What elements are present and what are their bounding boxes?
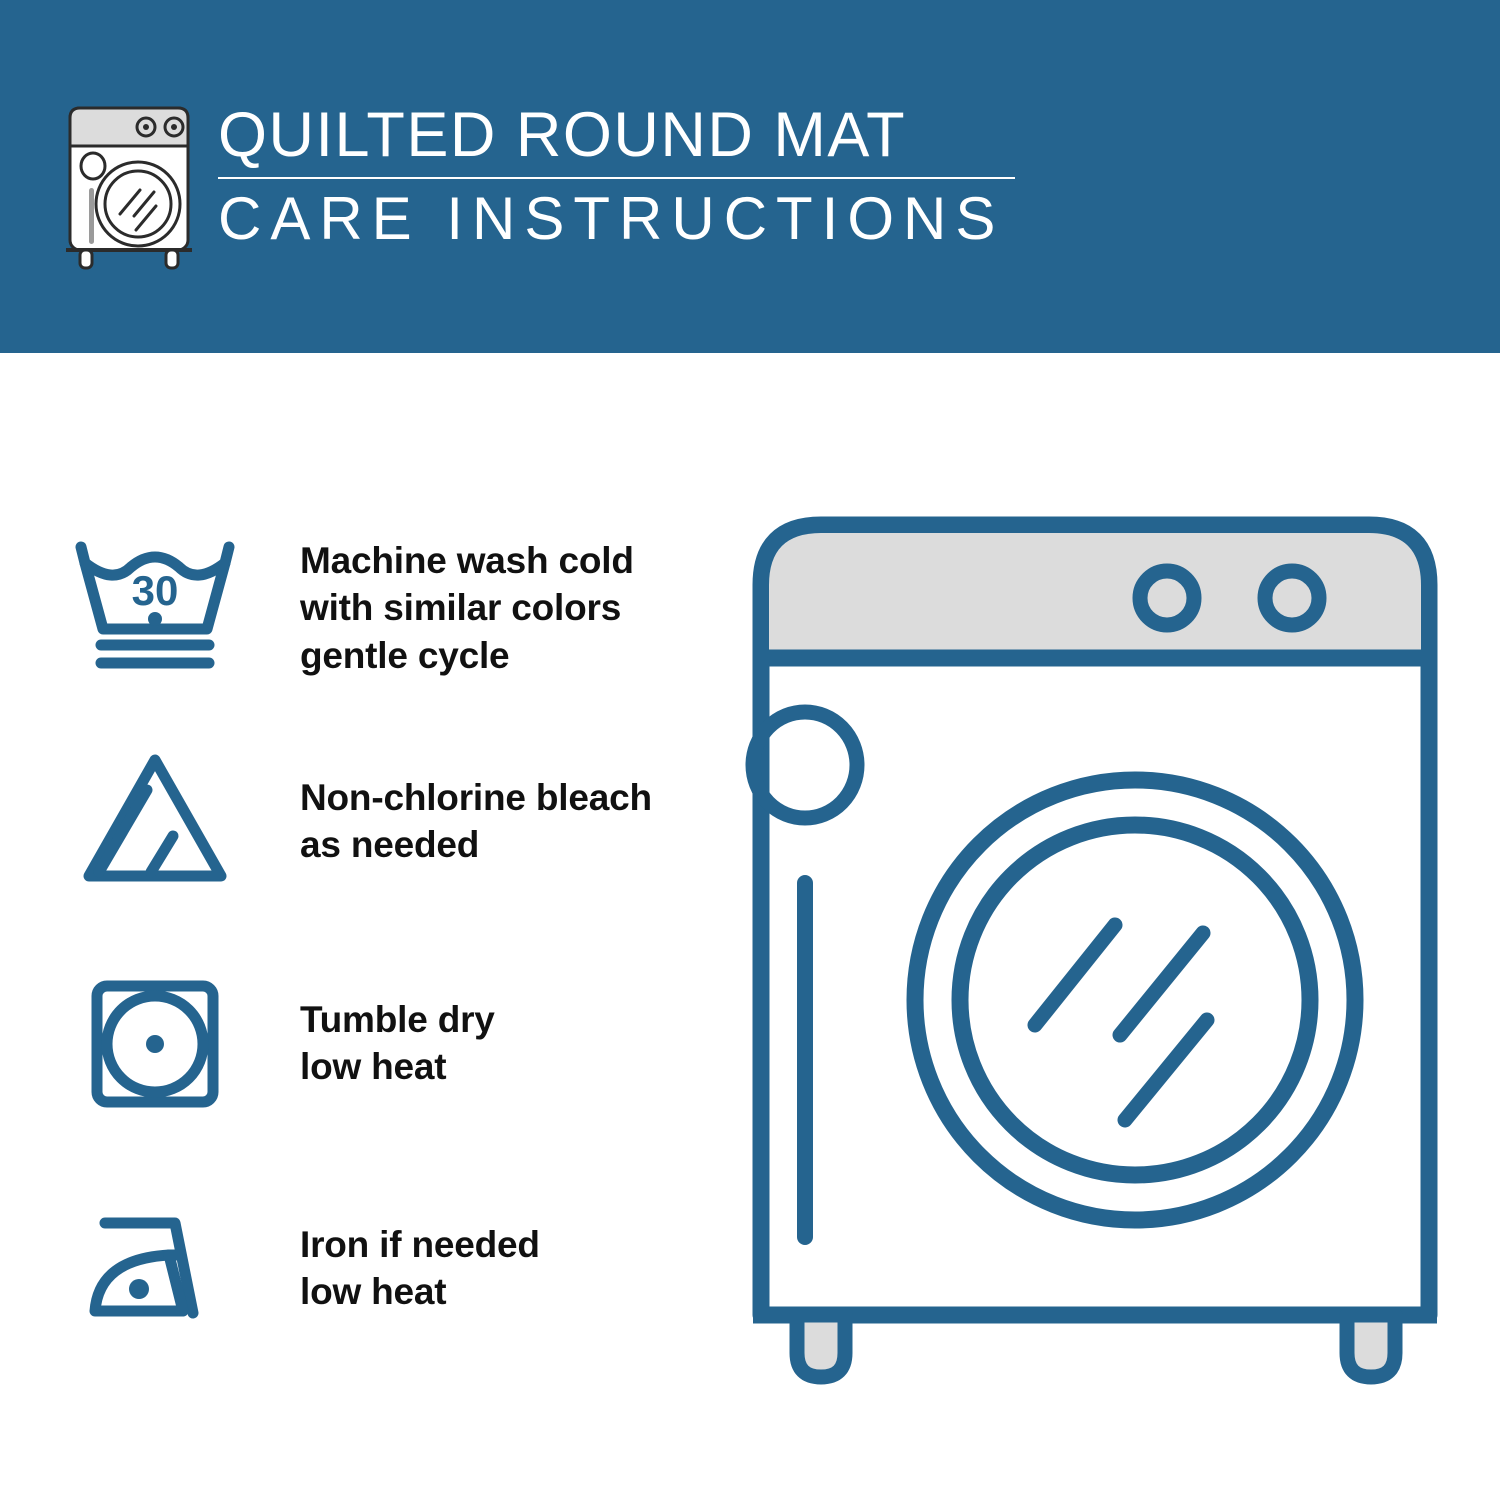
washing-machine-logo-icon [62, 104, 202, 272]
tumble-dry-low-heat-icon [55, 953, 255, 1133]
wash-tub-30-gentle-icon: 30 [55, 518, 255, 698]
care-line: Non-chlorine bleach [300, 774, 652, 821]
page-title: QUILTED ROUND MAT [218, 100, 1018, 171]
header-text-block: QUILTED ROUND MAT CARE INSTRUCTIONS [218, 100, 1018, 255]
care-line: as needed [300, 821, 652, 868]
wash-temperature-label: 30 [132, 567, 179, 614]
washer-leg-left [797, 1315, 845, 1377]
care-line: low heat [300, 1043, 495, 1090]
care-row-machine-wash: 30 Machine wash cold with similar colors… [0, 518, 730, 698]
non-chlorine-bleach-triangle-icon [55, 731, 255, 911]
care-line: low heat [300, 1268, 540, 1315]
care-instruction-list: 30 Machine wash cold with similar colors… [0, 353, 730, 1500]
washing-machine-illustration [735, 495, 1455, 1405]
care-line: Iron if needed [300, 1221, 540, 1268]
care-line: Tumble dry [300, 996, 495, 1043]
washer-leg-right [1347, 1315, 1395, 1377]
care-text-iron: Iron if needed low heat [300, 1221, 540, 1316]
care-line: with similar colors [300, 584, 634, 631]
care-line: Machine wash cold [300, 537, 634, 584]
care-text-tumble-dry: Tumble dry low heat [300, 996, 495, 1091]
care-text-bleach: Non-chlorine bleach as needed [300, 774, 652, 869]
care-text-machine-wash: Machine wash cold with similar colors ge… [300, 537, 634, 679]
care-row-bleach: Non-chlorine bleach as needed [0, 731, 730, 911]
care-instructions-page: QUILTED ROUND MAT CARE INSTRUCTIONS [0, 0, 1500, 1500]
header-banner: QUILTED ROUND MAT CARE INSTRUCTIONS [0, 0, 1500, 353]
care-row-tumble-dry: Tumble dry low heat [0, 953, 730, 1133]
washer-handle-bar [797, 875, 813, 1245]
care-row-iron: Iron if needed low heat [0, 1178, 730, 1358]
care-line: gentle cycle [300, 632, 634, 679]
page-subtitle: CARE INSTRUCTIONS [218, 183, 1018, 255]
header-divider [218, 177, 1015, 179]
iron-low-heat-icon [55, 1178, 255, 1358]
